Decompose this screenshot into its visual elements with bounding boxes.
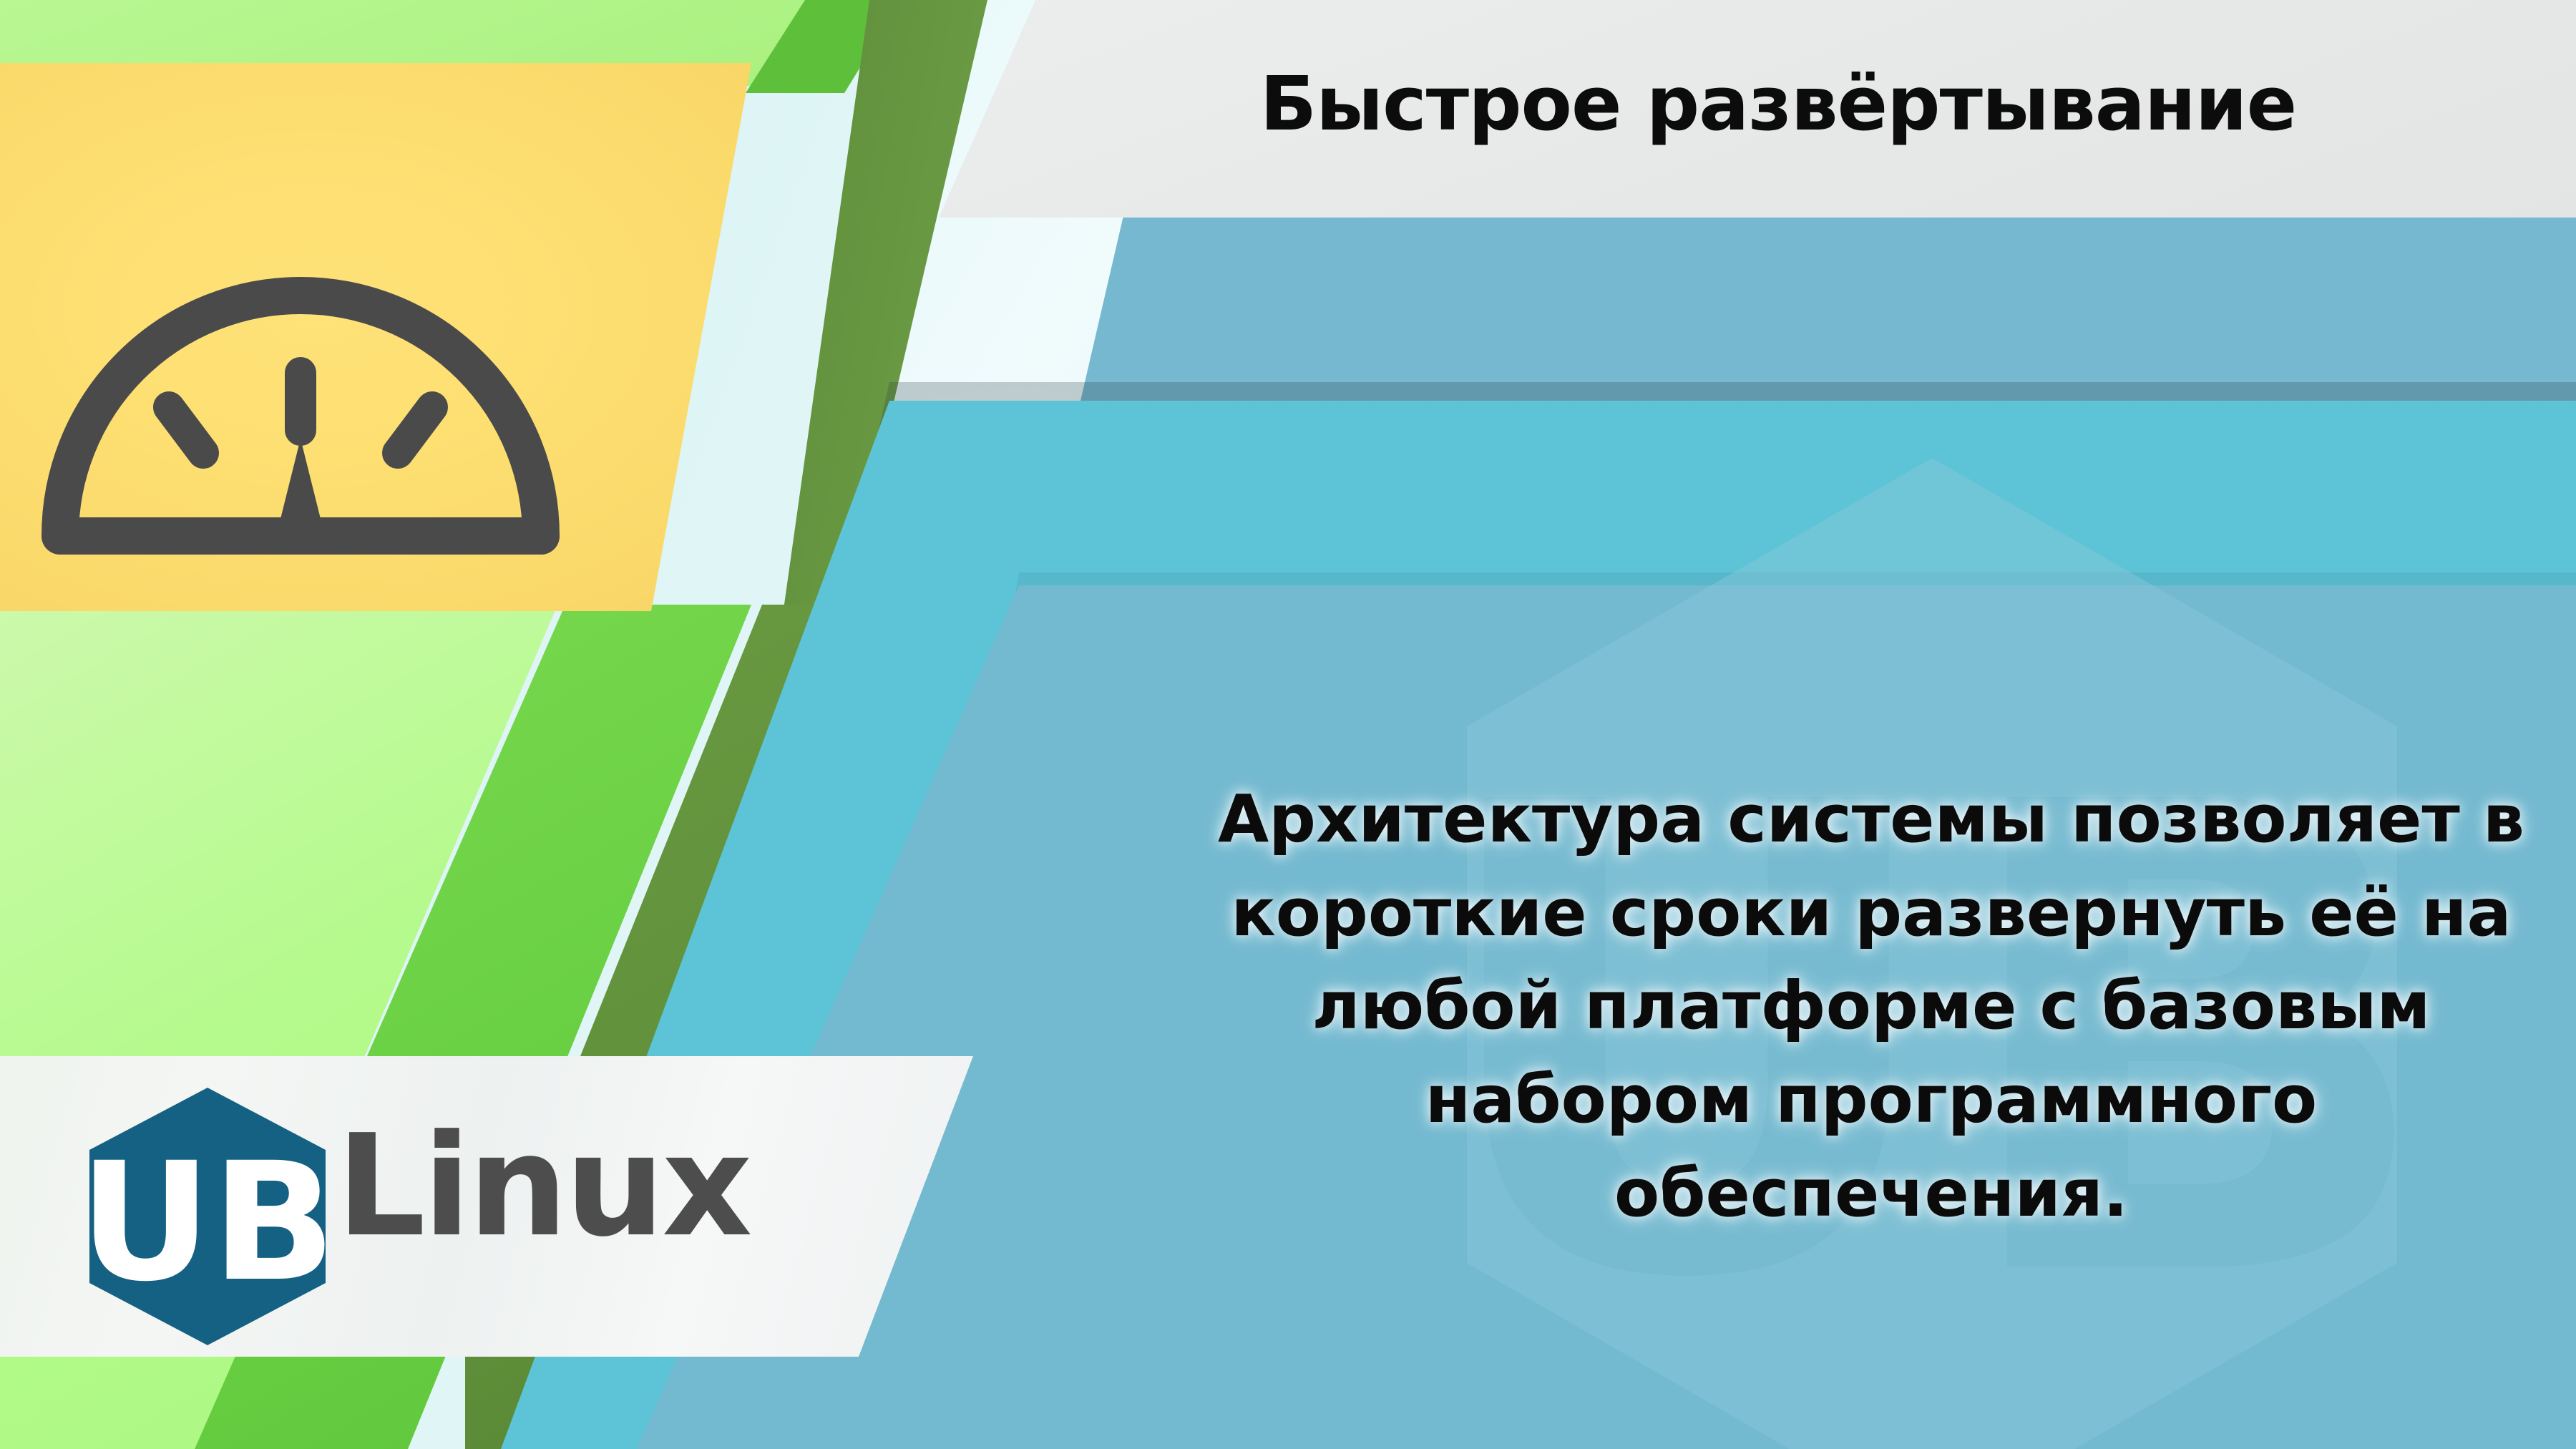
speedometer-icon <box>29 238 572 567</box>
title-banner: Быстрое развёртывание <box>930 0 2576 218</box>
page-title: Быстрое развёртывание <box>1260 60 2296 147</box>
logo-mark-text: UB <box>89 1127 326 1317</box>
body-paragraph: Архитектура системы позволяет в короткие… <box>1195 773 2547 1240</box>
slide-canvas: UB Быстрое развёртывание Архитектура сис… <box>0 0 2576 1449</box>
logo-wordmark: Linux <box>336 1116 750 1257</box>
ub-hexagon-icon: UB <box>89 1088 326 1345</box>
